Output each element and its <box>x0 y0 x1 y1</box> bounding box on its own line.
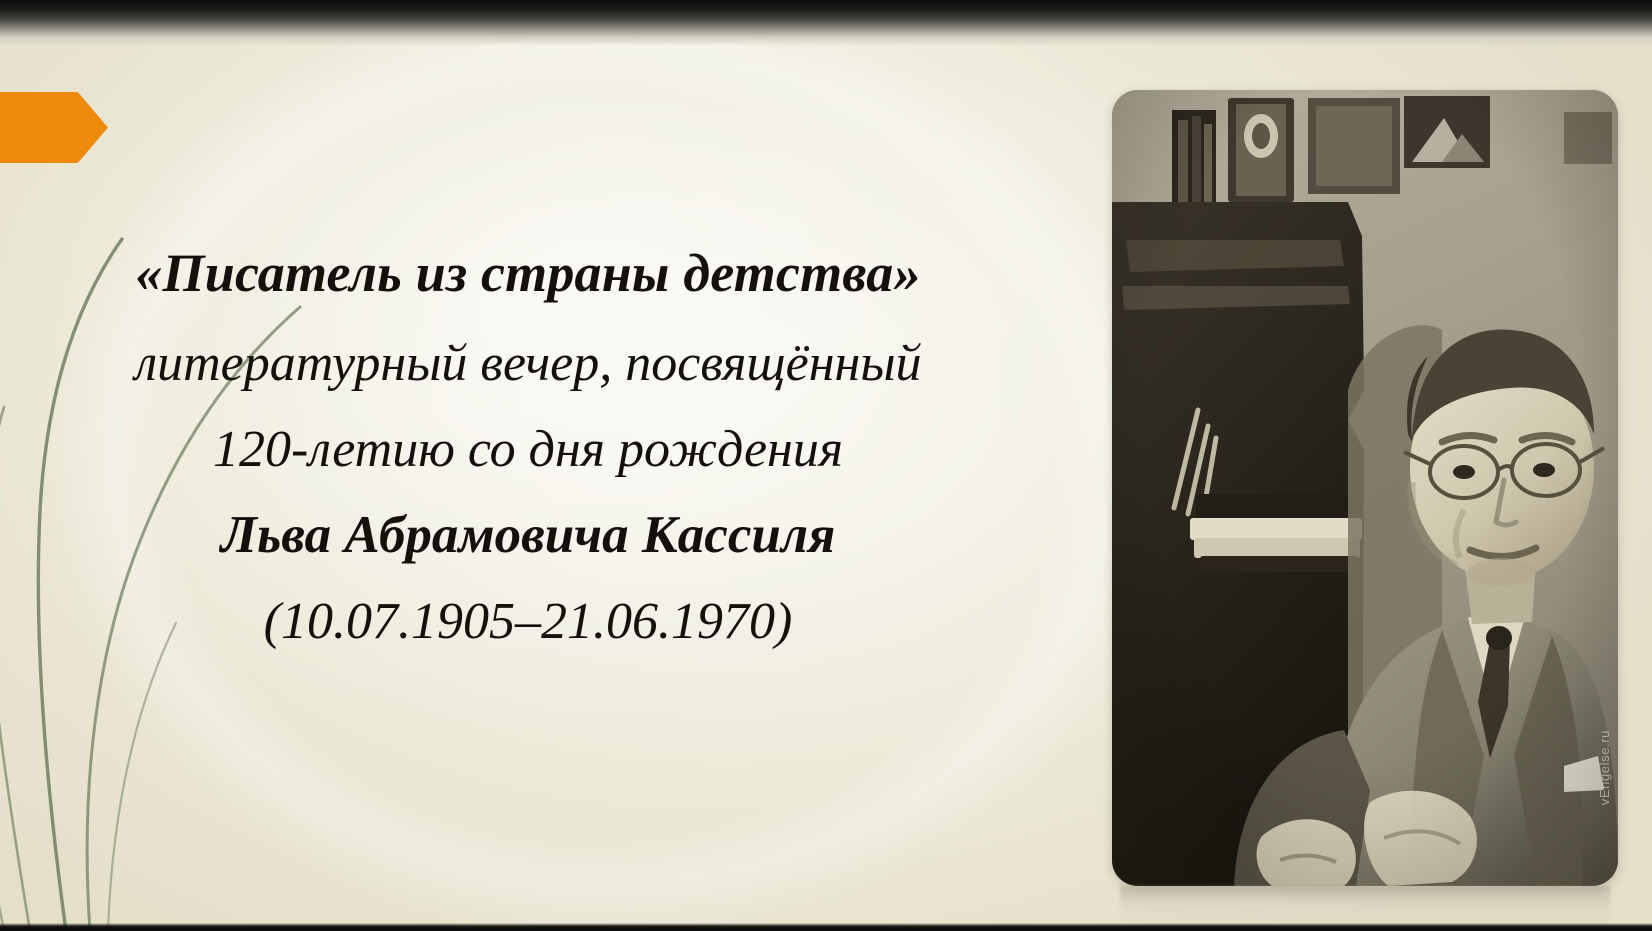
slide-occasion: 120-летию со дня рождения <box>18 416 1038 484</box>
slide-title: «Писатель из страны детства» <box>18 238 1038 308</box>
slide-text-block: «Писатель из страны детства» литературны… <box>18 238 1038 656</box>
presentation-slide: «Писатель из страны детства» литературны… <box>0 0 1652 931</box>
slide-life-dates: (10.07.1905–21.06.1970) <box>18 588 1038 656</box>
portrait-illustration <box>1112 90 1618 886</box>
slide-subtitle: литературный вечер, посвящённый <box>18 330 1038 398</box>
portrait-photo-container: vEngelse.ru <box>1112 90 1618 886</box>
portrait-photo: vEngelse.ru <box>1112 90 1618 886</box>
slide-person-name: Льва Абрамовича Кассиля <box>18 501 1038 570</box>
